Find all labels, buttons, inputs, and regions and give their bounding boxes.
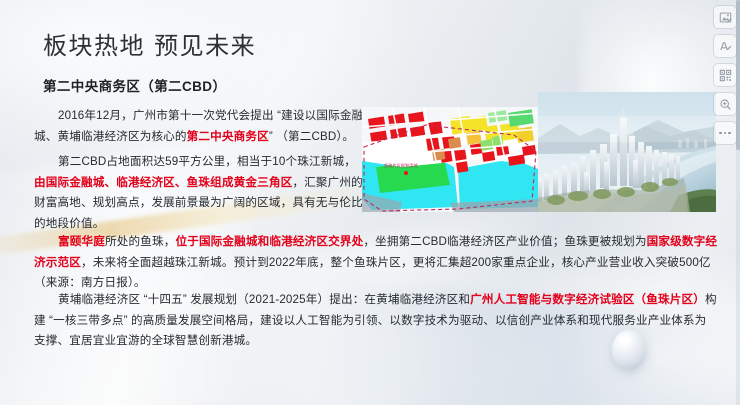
page-scrollbar-thumb[interactable] — [736, 0, 740, 150]
p3-text-b: ，坐拥第二CBD临港经济区产业价值；鱼珠更被规划为 — [363, 235, 646, 248]
p3-highlight-2: 位于国际金融城和临港经济区交界处 — [175, 235, 363, 248]
p4-highlight: 广州人工智能与数字经济试验区（鱼珠片区） — [470, 293, 705, 306]
slide-page: 板块热地 预见未来 第二中央商务区（第二CBD） 2016年12月，广州市第十一… — [0, 0, 740, 405]
floating-toolbar[interactable] — [714, 6, 736, 144]
more-icon[interactable] — [714, 122, 736, 144]
p2-highlight: 由国际金融城、临港经济区、鱼珠组成黄金三角区 — [34, 176, 292, 189]
p3-text-c: ，未来将全面超越珠江新城。预计到2022年底，整个鱼珠片区，更将汇集超200家重… — [34, 256, 711, 290]
screenshot-icon[interactable] — [714, 6, 736, 28]
zoom-in-icon[interactable] — [714, 93, 736, 115]
p2-text-a: 第二CBD占地面积达59平方公里，相当于10个珠江新城， — [58, 155, 356, 168]
qrcode-icon[interactable] — [714, 64, 736, 86]
skyline-render-image[interactable] — [538, 92, 716, 212]
p3-highlight-1: 富颐华庭 — [58, 235, 105, 248]
p4-text-a: 黄埔临港经济区 “十四五” 发展规划（2021-2025年）提出：在黄埔临港经济… — [58, 293, 470, 306]
page-title: 板块热地 预见未来 — [43, 26, 256, 61]
paragraph-2: 第二CBD占地面积达59平方公里，相当于10个珠江新城，由国际金融城、临港经济区… — [34, 152, 364, 234]
paragraph-4: 黄埔临港经济区 “十四五” 发展规划（2021-2025年）提出：在黄埔临港经济… — [34, 290, 718, 352]
p1-highlight: 第二中央商务区 — [187, 130, 269, 143]
page-scrollbar-track[interactable] — [736, 0, 740, 405]
translate-icon[interactable] — [714, 35, 736, 57]
planning-map-image[interactable]: 鱼珠片区规划用地 — [362, 107, 538, 212]
paragraph-3: 富颐华庭所处的鱼珠，位于国际金融城和临港经济区交界处，坐拥第二CBD临港经济区产… — [34, 232, 718, 294]
p3-text-a: 所处的鱼珠， — [105, 235, 175, 248]
svg-text:鱼珠片区规划用地: 鱼珠片区规划用地 — [384, 162, 418, 169]
section-subtitle: 第二中央商务区（第二CBD） — [43, 75, 226, 95]
paragraph-1: 2016年12月，广州市第十一次党代会提出 “建设以国际金融城、黄埔临港经济区为… — [34, 106, 364, 147]
p1-text-b: ” （第二CBD）。 — [269, 130, 354, 143]
more-dots — [719, 132, 731, 135]
